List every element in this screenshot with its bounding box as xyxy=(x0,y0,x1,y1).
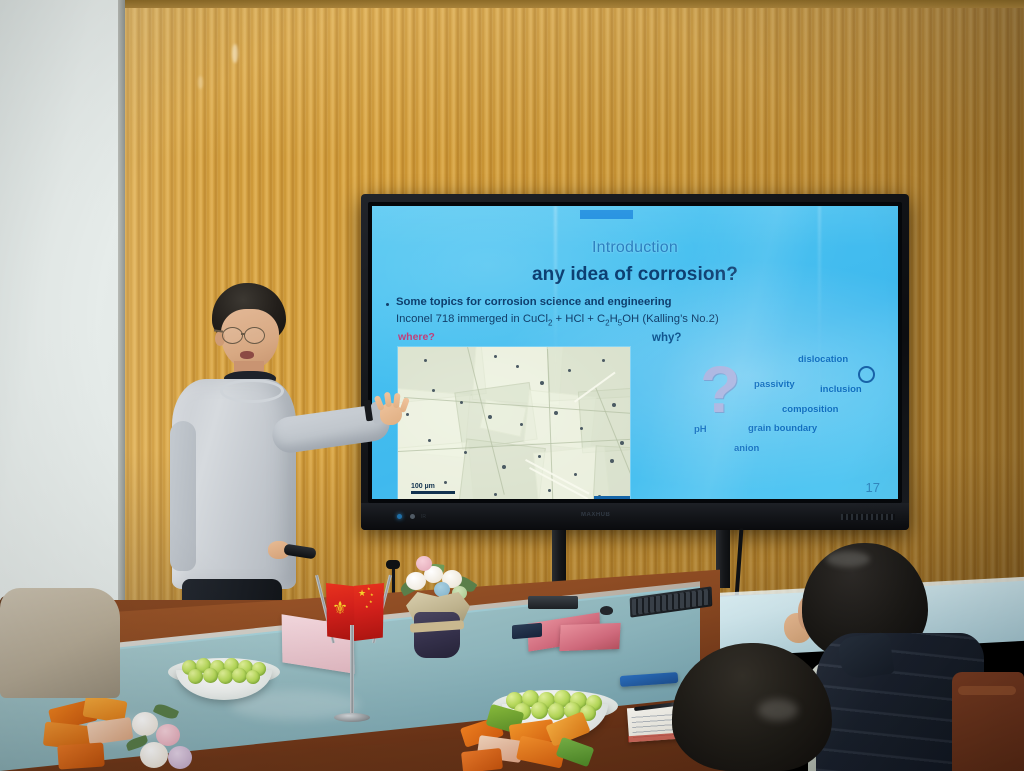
keyword-grain-boundary: grain boundary xyxy=(748,423,817,434)
bouquet-base xyxy=(414,612,460,658)
glasses-lens-right xyxy=(244,327,265,344)
speaker-grille xyxy=(841,514,895,520)
glasses-lens-left xyxy=(222,327,243,344)
grape xyxy=(232,668,247,683)
desk-flag-set: ⚜ ★ ★ ★ ★ ★ xyxy=(318,565,388,730)
decor-flower xyxy=(140,742,168,768)
bouquet-flower xyxy=(406,572,426,590)
display-chin: IR MAXHUB xyxy=(361,503,909,530)
precipitate xyxy=(502,465,506,469)
grape-bowl-left xyxy=(168,658,280,702)
precipitate xyxy=(494,493,497,496)
precipitate xyxy=(612,403,616,407)
snack-wrapper xyxy=(87,717,134,745)
label-where: where? xyxy=(398,331,435,343)
snack-pile-left xyxy=(44,698,194,771)
sample-prefix: Inconel 718 immerged in CuCl xyxy=(396,313,548,325)
sample-suffix: OH (Kalling’s No.2) xyxy=(622,313,718,325)
keyword-dislocation: dislocation xyxy=(798,354,848,365)
keyword-ph: pH xyxy=(694,424,707,435)
question-mark-glyph: ? xyxy=(700,356,740,422)
pink-folder[interactable] xyxy=(559,623,620,651)
wall-corner-trim xyxy=(118,0,125,640)
grape xyxy=(188,669,203,684)
keyword-passivity: passivity xyxy=(754,379,795,390)
wall-scuff-mark xyxy=(232,44,238,63)
grape xyxy=(246,670,260,684)
precipitate xyxy=(428,439,431,442)
keyword-anion: anion xyxy=(734,443,759,454)
av-control-box xyxy=(528,596,578,609)
decor-flower xyxy=(168,746,192,769)
snack-wrapper xyxy=(57,742,105,769)
seated-person-front xyxy=(672,643,862,771)
micrograph-image: 100 µm xyxy=(398,347,630,499)
label-why: why? xyxy=(652,332,681,344)
precipitate xyxy=(464,451,467,454)
flower-bouquet xyxy=(396,556,480,674)
screen-glare-streak xyxy=(554,206,557,499)
plain-wall xyxy=(0,0,124,640)
precipitate xyxy=(602,359,605,362)
presenter-left-arm xyxy=(170,421,196,571)
decor-flower xyxy=(132,712,158,736)
national-flag: ★ ★ ★ ★ ★ xyxy=(354,583,384,641)
circle-decoration-icon xyxy=(858,366,875,383)
sample-mid: + HCl + C xyxy=(552,313,605,325)
slide-page-number: 17 xyxy=(866,480,880,495)
precipitate xyxy=(548,489,551,492)
keyword-inclusion: inclusion xyxy=(820,384,862,395)
scale-bar-label: 100 µm xyxy=(411,483,435,490)
flag-star-icon: ★ xyxy=(369,600,373,604)
presentation-slide: Introduction any idea of corrosion? Some… xyxy=(372,206,898,499)
conference-room-photo: Introduction any idea of corrosion? Some… xyxy=(0,0,1024,771)
wall-display[interactable]: Introduction any idea of corrosion? Some… xyxy=(361,194,909,530)
sample-mid-2: H xyxy=(610,313,618,325)
flag-star-icon: ★ xyxy=(367,587,371,591)
precipitate xyxy=(538,455,541,458)
grain-region xyxy=(592,445,630,499)
draped-coat xyxy=(0,588,120,698)
flag-stand-base xyxy=(334,713,370,722)
hammer-sickle-emblem-icon: ⚜ xyxy=(332,599,348,617)
flag-star-icon: ★ xyxy=(358,589,366,598)
flag-stand-stem xyxy=(350,625,354,717)
calculator[interactable] xyxy=(512,623,542,640)
snack-wrapper xyxy=(461,748,503,771)
micrograph-corner-tag xyxy=(594,496,630,499)
precipitate xyxy=(574,473,577,476)
precipitate xyxy=(540,381,544,385)
presenter-sweater-collar xyxy=(220,379,284,403)
precipitate xyxy=(568,369,571,372)
presenter-pointing-hand xyxy=(378,395,405,425)
standby-led-icon xyxy=(410,514,415,519)
computer-mouse[interactable] xyxy=(600,606,613,615)
flag-star-icon: ★ xyxy=(370,593,374,597)
keyword-composition: composition xyxy=(782,404,838,415)
grape xyxy=(218,669,233,684)
slide-accent-bar xyxy=(580,210,633,219)
precipitate xyxy=(520,423,523,426)
scale-bar xyxy=(411,491,455,494)
keyword-cloud: ? dislocation passivity inclusion compos… xyxy=(672,344,897,484)
grape xyxy=(203,668,218,683)
slide-bullet-topic: Some topics for corrosion science and en… xyxy=(396,296,672,308)
precipitate xyxy=(432,389,435,392)
precipitate xyxy=(424,359,427,362)
precipitate xyxy=(580,427,583,430)
power-led-icon xyxy=(397,514,402,519)
precipitate xyxy=(444,481,447,484)
precipitate xyxy=(460,401,463,404)
snack-pile-center xyxy=(462,700,592,771)
display-stand-neck xyxy=(552,530,566,588)
display-brand-logo: MAXHUB xyxy=(581,512,610,518)
ir-sensor-label: IR xyxy=(421,514,426,520)
woman-hair-highlight xyxy=(826,551,870,567)
wall-scuff-mark xyxy=(198,76,203,89)
flag-star-icon: ★ xyxy=(365,605,369,609)
precipitate xyxy=(516,365,519,368)
person-hair xyxy=(672,643,832,771)
precipitate xyxy=(488,415,492,419)
precipitate xyxy=(494,355,497,358)
precipitate xyxy=(406,413,409,416)
slide-sample-line: Inconel 718 immerged in CuCl2 + HCl + C2… xyxy=(396,313,719,327)
glasses-bridge xyxy=(241,333,245,335)
precipitate xyxy=(620,441,624,445)
chair-right-slat xyxy=(958,686,1016,695)
bouquet-flower xyxy=(416,556,432,571)
person-hair-highlight xyxy=(758,699,798,721)
ceiling-trim xyxy=(120,0,1024,8)
precipitate xyxy=(610,459,614,463)
hand-finger xyxy=(384,392,392,408)
screen-glare-streak xyxy=(818,206,821,499)
presenter-mouth xyxy=(240,351,254,359)
